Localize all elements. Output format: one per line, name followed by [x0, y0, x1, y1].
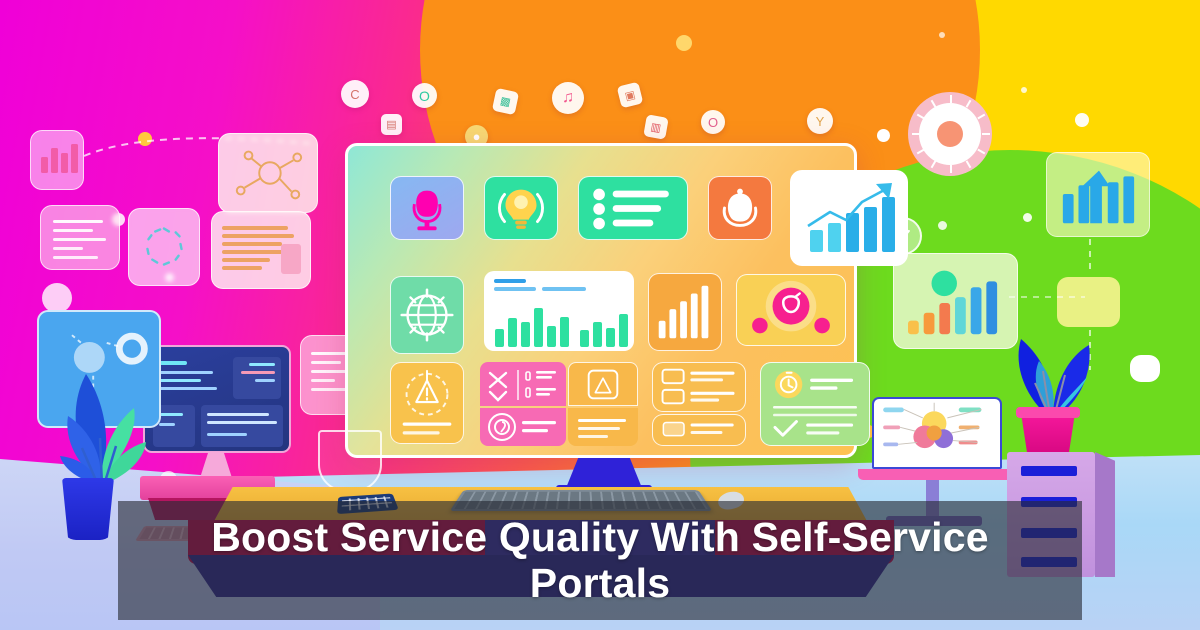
alert-gauge-tile[interactable] [390, 362, 464, 444]
ring-icon: O [419, 88, 430, 104]
report-header-line [542, 287, 586, 291]
photo-badge: ▥ [643, 114, 668, 139]
waste-basket [318, 430, 382, 492]
list-rows-icon [653, 363, 745, 411]
doc-line [222, 258, 270, 262]
lightbulb-tile[interactable] [484, 176, 558, 240]
microphone-icon [391, 177, 463, 239]
refresh-icon: C [350, 87, 359, 102]
doc-thumbnail [281, 244, 301, 274]
gauge-tick [931, 100, 937, 108]
decor-dot [676, 35, 692, 51]
coin-icon: ● [473, 129, 481, 144]
title-overlay: Boost Service Quality With Self-Service … [118, 501, 1082, 620]
ticket-list-tile[interactable] [652, 362, 746, 412]
timer-icon [761, 363, 869, 445]
ascending-bars-icon [649, 274, 721, 350]
text-rows-tile[interactable] [568, 408, 638, 446]
image-icon: ▩ [499, 94, 512, 109]
text-lines-card [40, 205, 120, 270]
list-rows-icon [653, 415, 745, 445]
text-line [53, 256, 98, 259]
decor-dot [1075, 113, 1089, 127]
chat-tile[interactable] [480, 408, 566, 446]
clipboard-icon: ▣ [623, 87, 636, 102]
gauge-tick [982, 133, 990, 135]
support-tile[interactable] [708, 176, 772, 240]
ticket-list-tile-2[interactable] [652, 414, 746, 446]
card-bar [61, 153, 68, 173]
monitor-neck [566, 458, 642, 488]
gauge-tick [950, 95, 952, 103]
text-line [53, 247, 83, 250]
text-line [53, 229, 93, 232]
lightbulb-icon [485, 177, 557, 239]
doc-line [222, 234, 294, 238]
report-header-line [494, 279, 526, 283]
window-icon: ▤ [386, 118, 396, 131]
bullet-list-icon [579, 177, 687, 239]
gauge-tick [977, 149, 985, 155]
workflow-tile[interactable] [480, 362, 566, 406]
dashboard-monitor[interactable] [345, 143, 857, 458]
ring-badge: O [412, 83, 437, 108]
checklist-tile[interactable] [578, 176, 688, 240]
card-bar [41, 157, 48, 173]
gauge-tick [966, 100, 972, 108]
decor-dot [877, 129, 890, 142]
gauge-tick [977, 114, 985, 120]
image-badge: ▩ [492, 88, 519, 115]
text-row [578, 427, 620, 430]
decor-dot [1021, 87, 1027, 93]
note-line [311, 361, 341, 364]
gauge-center-dot [937, 121, 963, 147]
alert-gauge-icon [391, 363, 463, 443]
decor-dot [938, 221, 947, 230]
shuffle-icon [480, 362, 566, 406]
monitor-line [207, 413, 269, 416]
card-bar [71, 144, 78, 173]
gauge-tick [966, 160, 972, 168]
note-line [311, 379, 335, 382]
globe-target-tile[interactable] [390, 276, 464, 354]
circle-badge: O [701, 110, 725, 134]
trending-up-icon [790, 170, 908, 266]
refresh-badge: C [341, 80, 369, 108]
user-badge-icon [737, 275, 845, 345]
growth-chart-tile[interactable] [790, 170, 908, 266]
monitor-line [249, 363, 275, 366]
sla-timer-tile[interactable] [760, 362, 870, 446]
circle-icon: O [708, 115, 718, 130]
text-row [578, 419, 626, 422]
growth-arrow-widget [1046, 152, 1150, 237]
gauge-tick [912, 133, 920, 135]
doc-line [222, 226, 288, 230]
bar-chart-card [30, 130, 84, 190]
decor-dot [1023, 213, 1032, 222]
report-header-line [494, 287, 536, 291]
decor-dot [939, 32, 945, 38]
white-square-widget [1130, 355, 1160, 382]
headset-icon [709, 177, 771, 239]
text-row [578, 435, 608, 438]
document-card [211, 211, 311, 289]
text-line [53, 238, 106, 241]
laptop-base [858, 469, 1016, 480]
dial-gauge-icon [919, 103, 981, 165]
monitor-line [207, 421, 277, 424]
note-line [311, 388, 347, 391]
agent-badge-tile[interactable] [736, 274, 846, 346]
dashboard-tile-grid [370, 168, 834, 439]
cabinet-side [1095, 452, 1115, 577]
bar-arrow-icon [1047, 153, 1149, 236]
microphone-tile[interactable] [390, 176, 464, 240]
chat-bubble-icon [480, 408, 566, 446]
bar-chart-icon [484, 295, 634, 347]
music-badge: ♫ [552, 82, 584, 114]
decor-dot [42, 283, 72, 313]
stats-card-tile[interactable] [568, 362, 638, 406]
window-badge: ▤ [381, 114, 402, 135]
doc-line [222, 242, 282, 246]
doc-line [222, 266, 262, 270]
monitor-line [241, 371, 275, 374]
page-title: Boost Service Quality With Self-Service … [148, 515, 1052, 607]
monitor-line [255, 379, 275, 382]
cabinet-drawer[interactable] [1021, 466, 1077, 476]
metrics-tile[interactable] [648, 273, 722, 351]
card-bar [51, 148, 58, 173]
illustration-canvas: C ▤ O ● ▩ ♫ ▣ ▥ O Y [0, 0, 1200, 630]
loading-ring-icon [129, 209, 199, 285]
monitor-line [207, 433, 247, 436]
network-node-card [218, 133, 318, 213]
bar-report-tile[interactable] [484, 271, 634, 351]
gauge-tick [931, 160, 937, 168]
monitor-panel [201, 405, 283, 447]
plant-left-pot [62, 478, 114, 540]
funnel-icon: Y [816, 114, 825, 129]
photo-icon: ▥ [650, 120, 663, 135]
funnel-badge: Y [807, 108, 833, 134]
globe-target-icon [391, 277, 463, 353]
gauge-tick [917, 114, 925, 120]
note-line [311, 352, 349, 355]
loading-ring-card [128, 208, 200, 286]
music-note-icon: ♫ [562, 89, 574, 107]
mind-map-diagram [874, 399, 1000, 467]
text-line [53, 220, 103, 223]
plant-left-leaves [38, 330, 168, 490]
laptop[interactable] [872, 397, 1002, 469]
network-nodes-icon [219, 134, 317, 212]
dial-gauge-widget [908, 92, 992, 176]
plant-right-pot-rim [1016, 407, 1080, 418]
gauge-tick [950, 165, 952, 173]
chart-card-icon [569, 363, 637, 405]
